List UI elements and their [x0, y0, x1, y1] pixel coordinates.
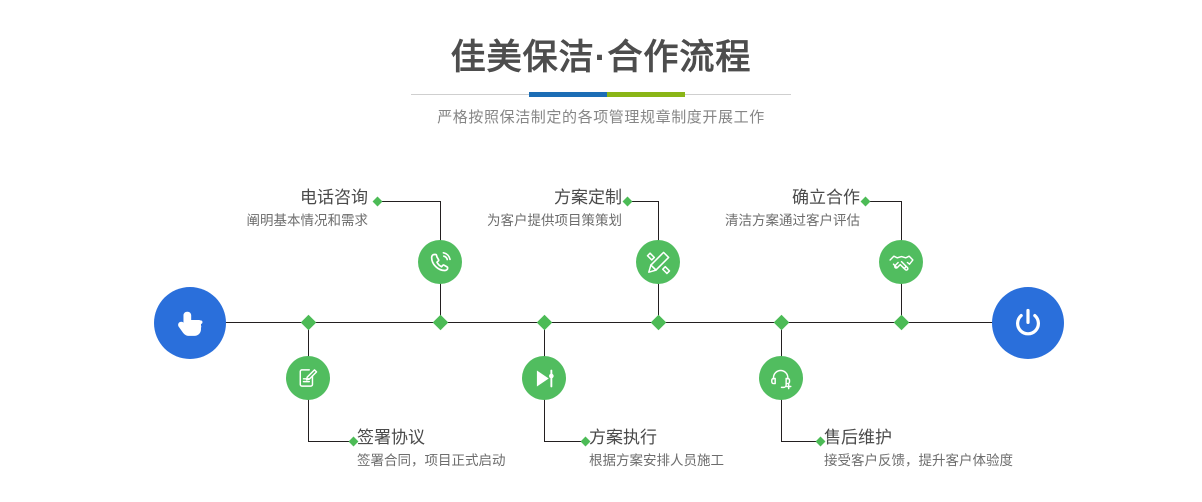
- label-step-1: 电话咨询 阐明基本情况和需求: [150, 187, 368, 231]
- label-title-step-5: 确立合作: [640, 187, 860, 209]
- timeline-end-node[interactable]: [992, 287, 1064, 359]
- node-icon-step-1[interactable]: [418, 240, 462, 284]
- axis-marker-1[interactable]: [433, 315, 449, 331]
- label-step-6: 售后维护 接受客户反馈，提升客户体验度: [824, 427, 1124, 471]
- label-desc-step-5: 清洁方案通过客户评估: [640, 211, 860, 231]
- node-icon-step-6[interactable]: [759, 356, 803, 400]
- hand-pointing-icon: [171, 304, 209, 342]
- label-title-step-1: 电话咨询: [150, 187, 368, 209]
- axis-marker-2[interactable]: [301, 315, 317, 331]
- label-title-step-6: 售后维护: [824, 427, 1124, 449]
- timeline-start-node[interactable]: [154, 287, 226, 359]
- page-title: 佳美保洁·合作流程: [0, 0, 1202, 80]
- timeline-axis: [155, 322, 1047, 323]
- process-flow-infographic: 佳美保洁·合作流程 严格按照保洁制定的各项管理规章制度开展工作: [0, 0, 1202, 502]
- label-title-step-3: 方案定制: [400, 187, 622, 209]
- power-icon: [1009, 304, 1047, 342]
- node-icon-step-4[interactable]: [522, 356, 566, 400]
- label-marker-3[interactable]: [623, 197, 633, 207]
- headset-support-icon: [768, 365, 795, 392]
- divider-segment-blue: [529, 92, 607, 97]
- label-marker-1[interactable]: [373, 197, 383, 207]
- pencil-ruler-icon: [645, 249, 672, 276]
- header: 佳美保洁·合作流程 严格按照保洁制定的各项管理规章制度开展工作: [0, 0, 1202, 128]
- label-desc-step-4: 根据方案安排人员施工: [589, 451, 849, 471]
- label-desc-step-1: 阐明基本情况和需求: [150, 211, 368, 231]
- node-icon-step-5[interactable]: [879, 240, 923, 284]
- axis-marker-4[interactable]: [537, 315, 553, 331]
- connector-horizontal-2: [308, 441, 354, 442]
- play-execute-icon: [531, 365, 558, 392]
- label-step-5: 确立合作 清洁方案通过客户评估: [640, 187, 860, 231]
- label-desc-step-6: 接受客户反馈，提升客户体验度: [824, 451, 1124, 471]
- node-icon-step-3[interactable]: [636, 240, 680, 284]
- axis-marker-5[interactable]: [894, 315, 910, 331]
- divider-segment-green: [607, 92, 685, 97]
- label-step-4: 方案执行 根据方案安排人员施工: [589, 427, 849, 471]
- page-subtitle: 严格按照保洁制定的各项管理规章制度开展工作: [0, 97, 1202, 128]
- phone-ring-icon: [427, 249, 454, 276]
- axis-marker-6[interactable]: [774, 315, 790, 331]
- label-marker-5[interactable]: [861, 197, 871, 207]
- label-desc-step-2: 签署合同，项目正式启动: [357, 451, 617, 471]
- node-icon-step-2[interactable]: [286, 356, 330, 400]
- connector-horizontal-5: [866, 201, 901, 202]
- document-sign-icon: [295, 365, 321, 391]
- label-title-step-4: 方案执行: [589, 427, 849, 449]
- handshake-icon: [888, 249, 915, 276]
- label-step-2: 签署协议 签署合同，项目正式启动: [357, 427, 617, 471]
- label-desc-step-3: 为客户提供项目策策划: [400, 211, 622, 231]
- title-divider: [411, 92, 791, 97]
- label-title-step-2: 签署协议: [357, 427, 617, 449]
- label-step-3: 方案定制 为客户提供项目策策划: [400, 187, 622, 231]
- axis-marker-3[interactable]: [651, 315, 667, 331]
